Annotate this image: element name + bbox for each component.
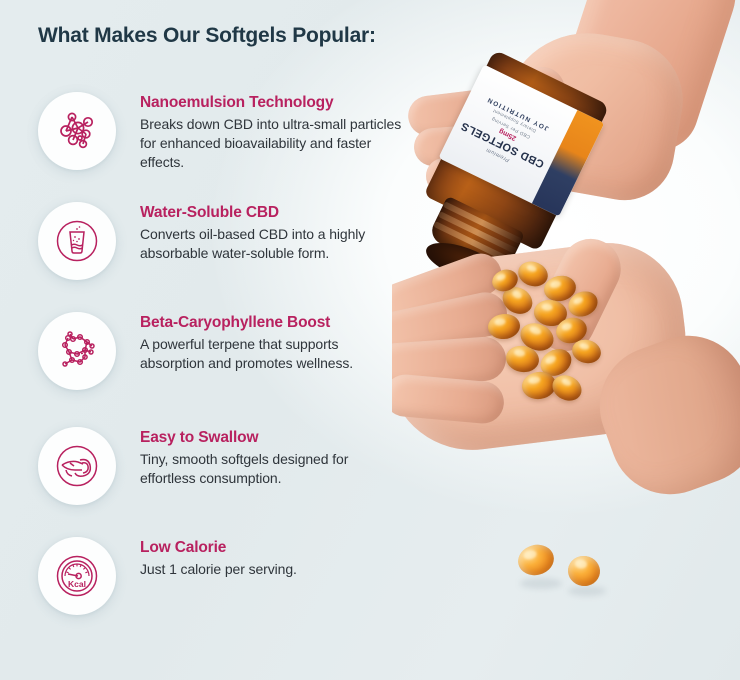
loose-softgel bbox=[515, 541, 557, 579]
loose-softgel bbox=[566, 554, 602, 588]
feature-icon-badge bbox=[38, 312, 116, 390]
product-photo: Premium CBD SOFTGELS 25mg CBD Per Servin… bbox=[392, 0, 740, 680]
feature-heading: Water-Soluble CBD bbox=[140, 204, 402, 222]
feature-text: Nanoemulsion Technology Breaks down CBD … bbox=[140, 90, 402, 172]
terpene-structure-icon bbox=[52, 326, 102, 376]
list-item: Kcal Low Calorie Just 1 calorie per serv… bbox=[38, 535, 408, 625]
feature-text: Water-Soluble CBD Converts oil-based CBD… bbox=[140, 200, 402, 263]
feature-icon-badge bbox=[38, 92, 116, 170]
feature-heading: Low Calorie bbox=[140, 539, 297, 557]
feature-text: Beta-Caryophyllene Boost A powerful terp… bbox=[140, 310, 402, 373]
page-background: What Makes Our Softgels Popular: bbox=[0, 0, 740, 680]
list-item: Easy to Swallow Tiny, smooth softgels de… bbox=[38, 425, 408, 535]
feature-icon-badge: Kcal bbox=[38, 537, 116, 615]
feature-heading: Nanoemulsion Technology bbox=[140, 94, 402, 112]
page-title: What Makes Our Softgels Popular: bbox=[38, 24, 376, 48]
molecule-nanoemulsion-icon bbox=[52, 106, 102, 156]
feature-body: Breaks down CBD into ultra-small particl… bbox=[140, 115, 402, 172]
feature-text: Low Calorie Just 1 calorie per serving. bbox=[140, 535, 297, 579]
water-glass-icon bbox=[52, 216, 102, 266]
hand-pill-swallow-icon bbox=[52, 441, 102, 491]
feature-heading: Easy to Swallow bbox=[140, 429, 402, 447]
feature-body: Tiny, smooth softgels designed for effor… bbox=[140, 450, 402, 488]
list-item: Nanoemulsion Technology Breaks down CBD … bbox=[38, 90, 408, 200]
feature-icon-badge bbox=[38, 202, 116, 280]
list-item: Water-Soluble CBD Converts oil-based CBD… bbox=[38, 200, 408, 310]
svg-text:Kcal: Kcal bbox=[68, 579, 86, 589]
feature-heading: Beta-Caryophyllene Boost bbox=[140, 314, 402, 332]
feature-body: Just 1 calorie per serving. bbox=[140, 560, 297, 579]
feature-icon-badge bbox=[38, 427, 116, 505]
capsule-shadow bbox=[520, 578, 562, 589]
list-item: Beta-Caryophyllene Boost A powerful terp… bbox=[38, 310, 408, 425]
capsule-shadow bbox=[568, 586, 606, 596]
kcal-gauge-icon: Kcal bbox=[52, 551, 102, 601]
feature-text: Easy to Swallow Tiny, smooth softgels de… bbox=[140, 425, 402, 488]
feature-list: Nanoemulsion Technology Breaks down CBD … bbox=[38, 90, 408, 625]
feature-body: A powerful terpene that supports absorpt… bbox=[140, 335, 402, 373]
feature-body: Converts oil-based CBD into a highly abs… bbox=[140, 225, 402, 263]
